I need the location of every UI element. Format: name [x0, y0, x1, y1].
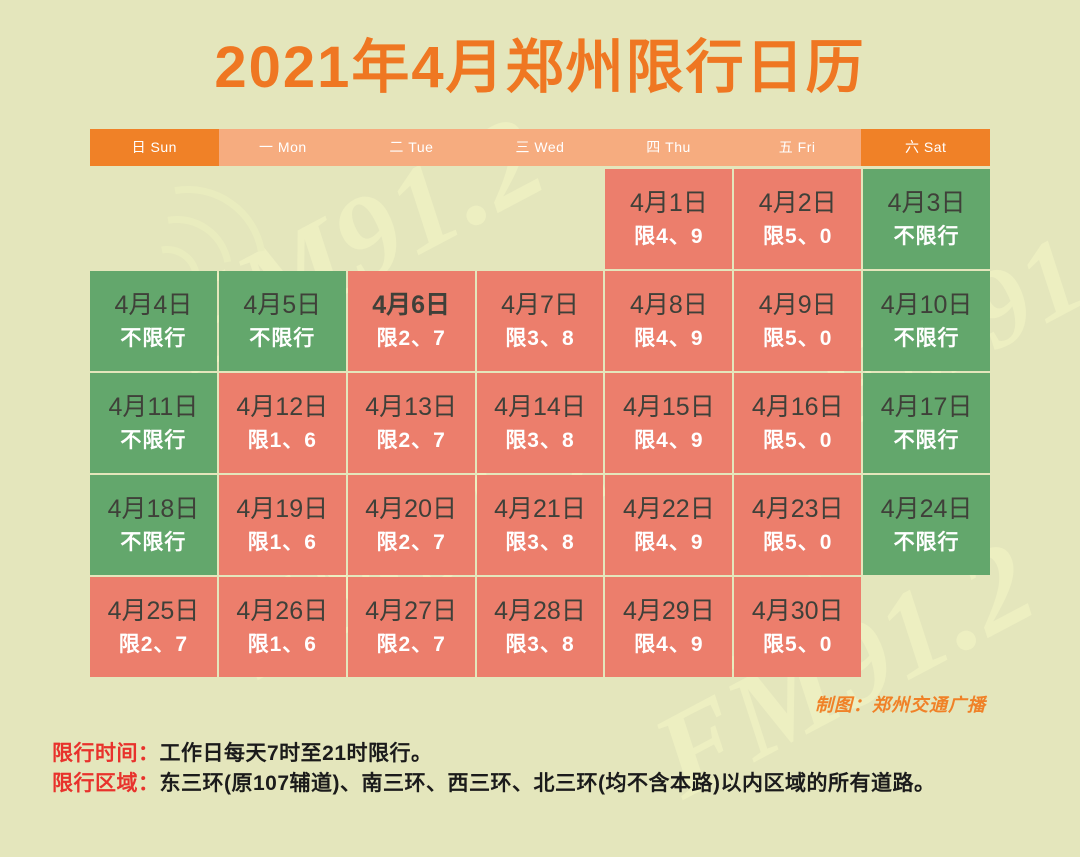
- day-restriction-label: 不限行: [120, 430, 186, 451]
- day-cell[interactable]: 4月12日限1、6: [219, 373, 346, 473]
- day-restriction-label: 不限行: [894, 226, 960, 247]
- note-text: 工作日每天7时至21时限行。: [160, 739, 433, 769]
- day-date-label: 4月4日: [115, 293, 193, 318]
- day-date-label: 4月12日: [236, 395, 328, 420]
- day-cell[interactable]: 4月19日限1、6: [219, 475, 346, 575]
- day-cell[interactable]: 4月16日限5、0: [734, 373, 861, 473]
- day-cell[interactable]: 4月2日限5、0: [734, 169, 861, 269]
- day-restriction-label: 限4、9: [634, 328, 703, 349]
- weekday-header-1: 一 Mon: [219, 129, 348, 166]
- day-date-label: 4月3日: [888, 191, 966, 216]
- day-restriction-label: 限5、0: [763, 634, 832, 655]
- day-date-label: 4月28日: [494, 599, 586, 624]
- day-restriction-label: 限1、6: [248, 430, 317, 451]
- note-label: 限行区域：: [52, 769, 160, 799]
- calendar-header-row: 日 Sun一 Mon二 Tue三 Wed四 Thu五 Fri六 Sat: [90, 129, 990, 166]
- day-date-label: 4月5日: [243, 293, 321, 318]
- day-restriction-label: 限1、6: [248, 532, 317, 553]
- day-date-label: 4月14日: [494, 395, 586, 420]
- day-cell[interactable]: 4月8日限4、9: [605, 271, 732, 371]
- day-date-label: 4月9日: [759, 293, 837, 318]
- day-cell-empty: [477, 169, 604, 269]
- day-restriction-label: 限5、0: [763, 226, 832, 247]
- day-date-label: 4月20日: [365, 497, 457, 522]
- day-date-label: 4月25日: [108, 599, 200, 624]
- day-date-label: 4月15日: [623, 395, 715, 420]
- day-restriction-label: 限2、7: [376, 328, 445, 349]
- day-restriction-label: 限2、7: [376, 532, 445, 553]
- day-cell[interactable]: 4月11日不限行: [90, 373, 217, 473]
- day-date-label: 4月18日: [108, 497, 200, 522]
- day-cell[interactable]: 4月17日不限行: [863, 373, 990, 473]
- day-restriction-label: 限2、7: [376, 634, 445, 655]
- restriction-calendar: 日 Sun一 Mon二 Tue三 Wed四 Thu五 Fri六 Sat 4月1日…: [90, 129, 990, 677]
- day-restriction-label: 限3、8: [505, 634, 574, 655]
- day-date-label: 4月10日: [881, 293, 973, 318]
- day-cell[interactable]: 4月18日不限行: [90, 475, 217, 575]
- day-restriction-label: 限2、7: [119, 634, 188, 655]
- day-restriction-label: 限3、8: [505, 328, 574, 349]
- day-cell[interactable]: 4月5日不限行: [219, 271, 346, 371]
- day-restriction-label: 不限行: [120, 328, 186, 349]
- weekday-header-2: 二 Tue: [347, 129, 476, 166]
- day-date-label: 4月22日: [623, 497, 715, 522]
- day-cell[interactable]: 4月27日限2、7: [348, 577, 475, 677]
- day-restriction-label: 限4、9: [634, 226, 703, 247]
- day-date-label: 4月2日: [759, 191, 837, 216]
- day-date-label: 4月16日: [752, 395, 844, 420]
- day-cell-empty: [219, 169, 346, 269]
- day-restriction-label: 不限行: [894, 328, 960, 349]
- day-cell[interactable]: 4月25日限2、7: [90, 577, 217, 677]
- weekday-header-0: 日 Sun: [90, 129, 219, 166]
- weekday-header-4: 四 Thu: [604, 129, 733, 166]
- day-restriction-label: 限3、8: [505, 430, 574, 451]
- day-date-label: 4月23日: [752, 497, 844, 522]
- day-restriction-label: 限3、8: [505, 532, 574, 553]
- day-cell[interactable]: 4月22日限4、9: [605, 475, 732, 575]
- note-row: 限行区域：东三环(原107辅道)、南三环、西三环、北三环(均不含本路)以内区域的…: [52, 769, 1080, 799]
- note-label: 限行时间：: [52, 739, 160, 769]
- day-restriction-label: 不限行: [894, 430, 960, 451]
- day-cell[interactable]: 4月10日不限行: [863, 271, 990, 371]
- day-cell[interactable]: 4月14日限3、8: [477, 373, 604, 473]
- day-date-label: 4月30日: [752, 599, 844, 624]
- weekday-header-5: 五 Fri: [733, 129, 862, 166]
- day-date-label: 4月11日: [108, 395, 198, 420]
- day-date-label: 4月21日: [494, 497, 586, 522]
- day-date-label: 4月19日: [236, 497, 328, 522]
- day-restriction-label: 不限行: [894, 532, 960, 553]
- day-cell[interactable]: 4月6日限2、7: [348, 271, 475, 371]
- day-date-label: 4月7日: [501, 293, 579, 318]
- weekday-header-3: 三 Wed: [476, 129, 605, 166]
- day-date-label: 4月27日: [365, 599, 457, 624]
- day-date-label: 4月17日: [881, 395, 973, 420]
- credit-line: 制图：郑州交通广播: [86, 691, 994, 717]
- day-cell[interactable]: 4月3日不限行: [863, 169, 990, 269]
- day-cell-empty: [90, 169, 217, 269]
- day-date-label: 4月8日: [630, 293, 708, 318]
- day-date-label: 4月1日: [630, 191, 708, 216]
- day-restriction-label: 限5、0: [763, 532, 832, 553]
- day-restriction-label: 限2、7: [376, 430, 445, 451]
- footer-notes: 限行时间：工作日每天7时至21时限行。限行区域：东三环(原107辅道)、南三环、…: [52, 739, 1080, 800]
- day-restriction-label: 限4、9: [634, 532, 703, 553]
- day-cell[interactable]: 4月9日限5、0: [734, 271, 861, 371]
- note-row: 限行时间：工作日每天7时至21时限行。: [52, 739, 1080, 769]
- day-date-label: 4月29日: [623, 599, 715, 624]
- day-restriction-label: 不限行: [120, 532, 186, 553]
- day-cell[interactable]: 4月15日限4、9: [605, 373, 732, 473]
- day-cell[interactable]: 4月29日限4、9: [605, 577, 732, 677]
- day-restriction-label: 限4、9: [634, 430, 703, 451]
- day-cell[interactable]: 4月26日限1、6: [219, 577, 346, 677]
- day-date-label: 4月13日: [365, 395, 457, 420]
- day-cell[interactable]: 4月7日限3、8: [477, 271, 604, 371]
- day-cell-empty: [348, 169, 475, 269]
- weekday-header-6: 六 Sat: [861, 129, 990, 166]
- day-cell-empty: [863, 577, 990, 677]
- day-date-label: 4月6日: [372, 293, 450, 318]
- day-restriction-label: 不限行: [249, 328, 315, 349]
- day-cell[interactable]: 4月13日限2、7: [348, 373, 475, 473]
- day-date-label: 4月24日: [881, 497, 973, 522]
- day-restriction-label: 限4、9: [634, 634, 703, 655]
- day-cell[interactable]: 4月1日限4、9: [605, 169, 732, 269]
- day-cell[interactable]: 4月21日限3、8: [477, 475, 604, 575]
- day-restriction-label: 限1、6: [248, 634, 317, 655]
- day-date-label: 4月26日: [236, 599, 328, 624]
- day-cell[interactable]: 4月28日限3、8: [477, 577, 604, 677]
- page-title: 2021年4月郑州限行日历: [0, 0, 1080, 99]
- day-restriction-label: 限5、0: [763, 328, 832, 349]
- calendar-grid: 4月1日限4、94月2日限5、04月3日不限行4月4日不限行4月5日不限行4月6…: [90, 169, 990, 677]
- note-text: 东三环(原107辅道)、南三环、西三环、北三环(均不含本路)以内区域的所有道路。: [160, 769, 936, 799]
- day-cell[interactable]: 4月23日限5、0: [734, 475, 861, 575]
- day-cell[interactable]: 4月20日限2、7: [348, 475, 475, 575]
- day-restriction-label: 限5、0: [763, 430, 832, 451]
- day-cell[interactable]: 4月4日不限行: [90, 271, 217, 371]
- day-cell[interactable]: 4月24日不限行: [863, 475, 990, 575]
- day-cell[interactable]: 4月30日限5、0: [734, 577, 861, 677]
